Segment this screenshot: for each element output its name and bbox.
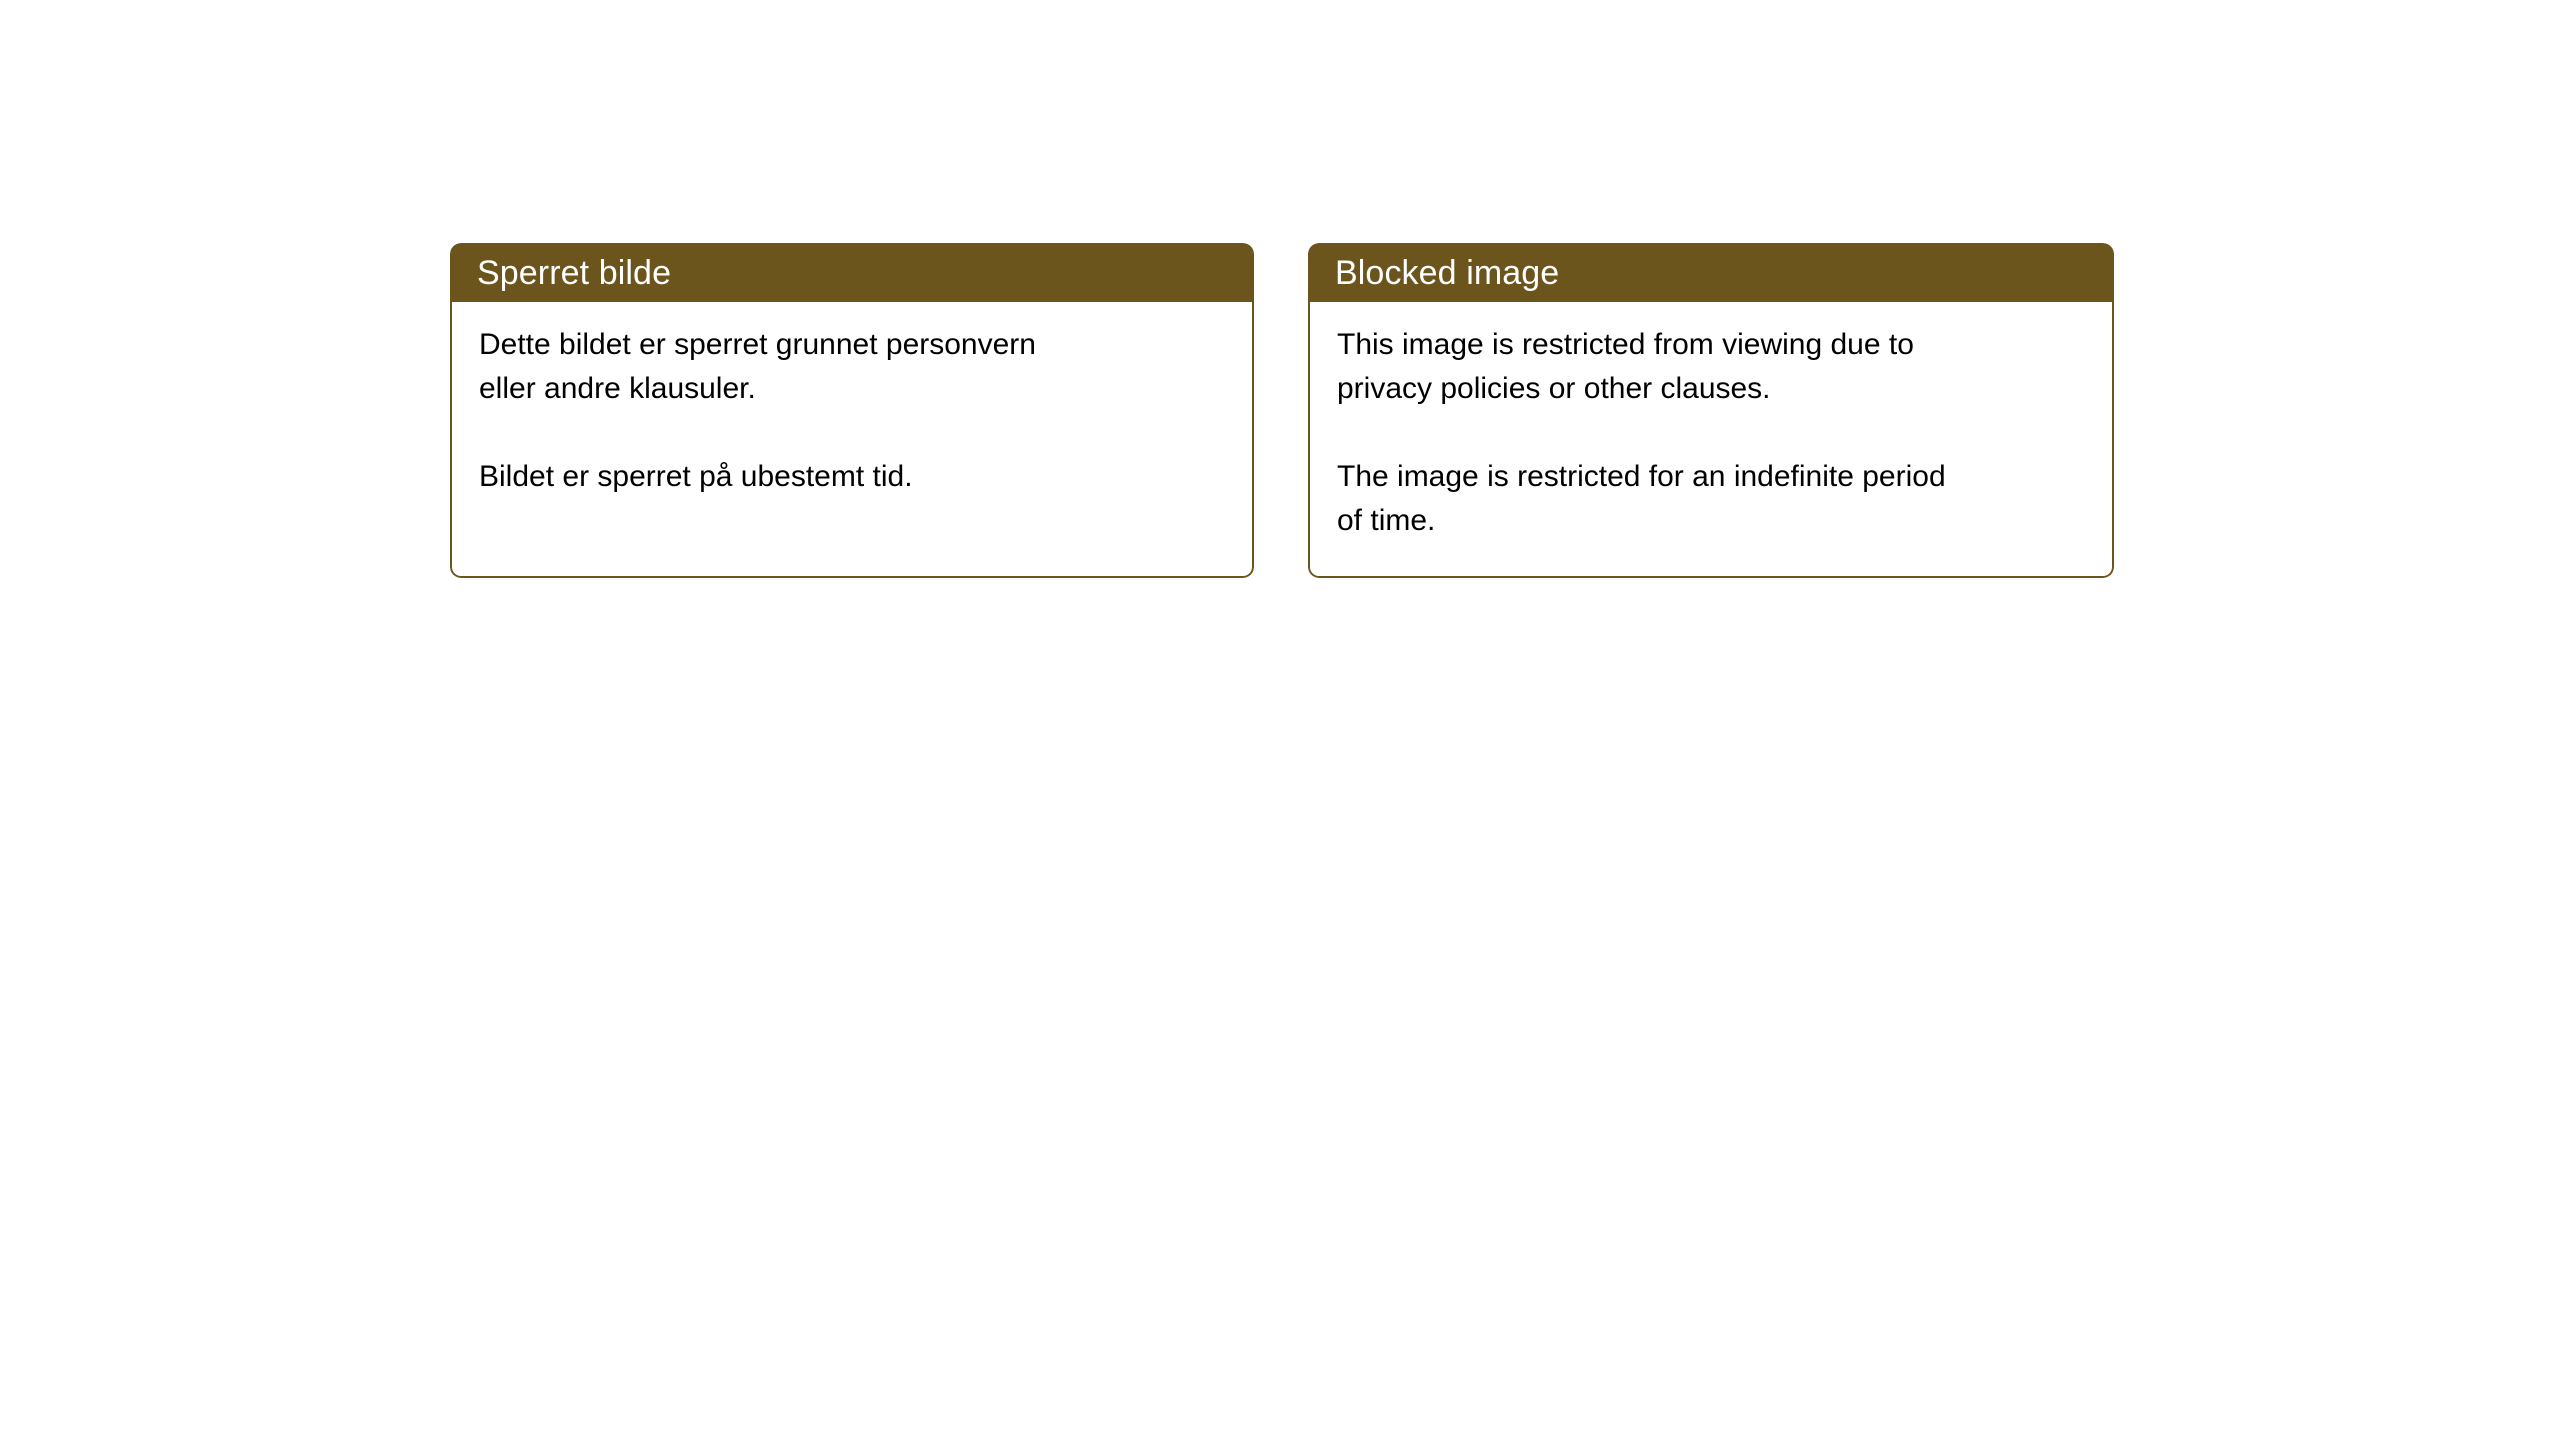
card-body-norwegian: Dette bildet er sperret grunnet personve… — [450, 302, 1254, 578]
card-title-norwegian: Sperret bilde — [477, 253, 671, 293]
card-title-english: Blocked image — [1335, 253, 1559, 293]
card-header-norwegian: Sperret bilde — [450, 243, 1254, 302]
blocked-image-card-english: Blocked image This image is restricted f… — [1308, 243, 2114, 578]
card-paragraph-duration-norwegian: Bildet er sperret på ubestemt tid. — [479, 455, 1226, 499]
card-paragraph-reason-english: This image is restricted from viewing du… — [1337, 323, 2086, 411]
card-body-english: This image is restricted from viewing du… — [1308, 302, 2114, 578]
blocked-image-card-norwegian: Sperret bilde Dette bildet er sperret gr… — [450, 243, 1254, 578]
card-paragraph-reason-norwegian: Dette bildet er sperret grunnet personve… — [479, 323, 1226, 411]
blocked-image-notices: Sperret bilde Dette bildet er sperret gr… — [450, 243, 2114, 578]
card-paragraph-duration-english: The image is restricted for an indefinit… — [1337, 455, 2086, 543]
page-canvas: Sperret bilde Dette bildet er sperret gr… — [0, 0, 2560, 1440]
card-header-english: Blocked image — [1308, 243, 2114, 302]
